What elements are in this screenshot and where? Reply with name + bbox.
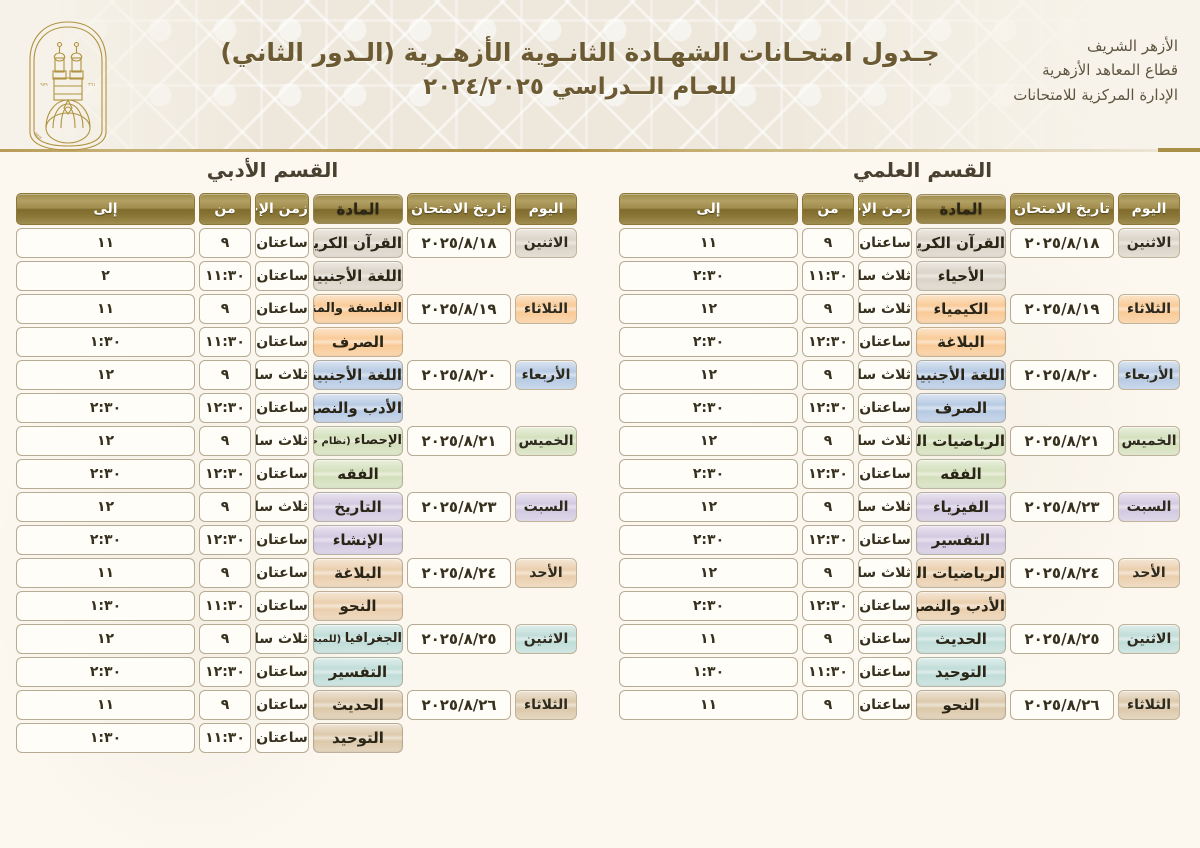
cell-time-from: ١٢:٣٠	[802, 459, 854, 489]
day-pill-empty	[515, 393, 577, 423]
time-to: ٢:٣٠	[16, 657, 195, 687]
cell-time-from: ٩	[199, 492, 251, 522]
cell-subject: التوحيد	[916, 657, 1006, 687]
table-row: الأحد٢٠٢٥/٨/٢٤البلاغةساعتان٩١١	[16, 558, 577, 588]
cell-time-from: ١٢:٣٠	[802, 393, 854, 423]
cell-time-to: ٢:٣٠	[619, 261, 798, 291]
subject-pill: الفقه	[916, 459, 1006, 489]
answer-duration: ساعتان ونصف	[255, 261, 309, 291]
time-to: ٢:٣٠	[16, 393, 195, 423]
time-to: ٢:٣٠	[16, 459, 195, 489]
cell-answer-duration: ساعتان	[255, 327, 309, 357]
cell-time-to: ٢	[16, 261, 195, 291]
time-from: ١٢:٣٠	[802, 393, 854, 423]
cell-time-from: ٩	[199, 558, 251, 588]
exam-date-empty	[1010, 525, 1114, 555]
cell-day: الثلاثاء	[515, 294, 577, 324]
time-to: ٢:٣٠	[619, 393, 798, 423]
subject-note: (للمبصرين فقط)	[313, 634, 345, 645]
cell-time-to: ١٢	[619, 492, 798, 522]
time-to: ١٢	[16, 360, 195, 390]
subject-pill: التوحيد	[916, 657, 1006, 687]
time-from: ١١:٣٠	[802, 261, 854, 291]
col-header-duration: زمن الإجابة	[858, 193, 912, 225]
cell-day: الأحد	[515, 558, 577, 588]
page-title-line-2: للعـام الــدراسي ٢٠٢٤/٢٠٢٥	[0, 70, 1160, 105]
cell-day: الاثنين	[515, 624, 577, 654]
subject-pill: القرآن الكريم	[916, 228, 1006, 258]
time-from: ١٢:٣٠	[199, 393, 251, 423]
table-row: الثلاثاء٢٠٢٥/٨/١٩الفلسفة والمنطق (نظام ق…	[16, 294, 577, 324]
time-to: ١١	[16, 294, 195, 324]
answer-duration: ساعتان	[858, 393, 912, 423]
cell-time-from: ٩	[199, 360, 251, 390]
cell-subject: الصرف	[916, 393, 1006, 423]
col-header-subject: المادة	[313, 193, 403, 225]
time-from: ١٢:٣٠	[802, 525, 854, 555]
answer-duration: ثلاث ساعات	[858, 492, 912, 522]
time-to: ١٢	[619, 426, 798, 456]
cell-day	[1118, 525, 1180, 555]
cell-time-to: ١١	[619, 690, 798, 720]
section-title-literary: القسم الأدبي	[12, 158, 581, 182]
exam-date-empty	[1010, 261, 1114, 291]
schedule-table-literary: اليوم تاريخ الامتحان المادة زمن الإجابة …	[12, 190, 581, 756]
exam-date-empty	[407, 591, 511, 621]
exam-date-empty	[1010, 459, 1114, 489]
cell-time-from: ١٢:٣٠	[802, 525, 854, 555]
table-row: الفقهساعتان١٢:٣٠٢:٣٠	[16, 459, 577, 489]
cell-subject: الأدب والنصوص والمطالعة	[313, 393, 403, 423]
time-to: ١٢	[619, 492, 798, 522]
time-from: ٩	[802, 690, 854, 720]
cell-answer-duration: ساعتان	[858, 459, 912, 489]
exam-date: ٢٠٢٥/٨/١٨	[407, 228, 511, 258]
cell-day: الثلاثاء	[515, 690, 577, 720]
day-pill-empty	[1118, 525, 1180, 555]
cell-answer-duration: ثلاث ساعات	[255, 624, 309, 654]
cell-answer-duration: ثلاث ساعات	[255, 360, 309, 390]
table-row: الخميس٢٠٢٥/٨/٢١الإحصاء (نظام حديث للمبصر…	[16, 426, 577, 456]
answer-duration: ثلاث ساعات	[858, 294, 912, 324]
table-row: الثلاثاء٢٠٢٥/٨/١٩الكيمياءثلاث ساعات٩١٢	[619, 294, 1180, 324]
time-from: ٩	[802, 558, 854, 588]
cell-subject: الرياضيات التطبيقية	[916, 426, 1006, 456]
time-to: ١٢	[16, 426, 195, 456]
table-row: البلاغةساعتان١٢:٣٠٢:٣٠	[619, 327, 1180, 357]
cell-date	[407, 261, 511, 291]
time-to: ١٢	[16, 624, 195, 654]
table-row: الأربعاء٢٠٢٥/٨/٢٠اللغة الأجنبيةثلاث ساعا…	[619, 360, 1180, 390]
col-header-duration: زمن الإجابة	[255, 193, 309, 225]
day-pill: الخميس	[1118, 426, 1180, 456]
cell-time-from: ٩	[802, 294, 854, 324]
table-row: الفقهساعتان١٢:٣٠٢:٣٠	[619, 459, 1180, 489]
cell-time-to: ٢:٣٠	[16, 525, 195, 555]
cell-subject: الأحياء	[916, 261, 1006, 291]
table-row: الاثنين٢٠٢٥/٨/٢٥الحديثساعتان٩١١	[619, 624, 1180, 654]
cell-subject: الفيزياء	[916, 492, 1006, 522]
time-to: ١:٣٠	[16, 591, 195, 621]
time-to: ١٢	[619, 294, 798, 324]
answer-duration: ساعتان	[858, 525, 912, 555]
subject-pill: القرآن الكريم	[313, 228, 403, 258]
time-to: ١١	[619, 228, 798, 258]
cell-time-from: ١١:٣٠	[802, 261, 854, 291]
cell-answer-duration: ساعتان	[255, 228, 309, 258]
col-header-date: تاريخ الامتحان	[1010, 193, 1114, 225]
exam-date: ٢٠٢٥/٨/١٩	[1010, 294, 1114, 324]
time-from: ١١:٣٠	[199, 591, 251, 621]
day-pill-empty	[1118, 261, 1180, 291]
time-to: ٢:٣٠	[16, 525, 195, 555]
cell-day: السبت	[515, 492, 577, 522]
cell-answer-duration: ساعتان	[255, 459, 309, 489]
exam-date: ٢٠٢٥/٨/١٩	[407, 294, 511, 324]
subject-pill: التفسير	[916, 525, 1006, 555]
answer-duration: ثلاث ساعات	[858, 261, 912, 291]
cell-date	[407, 327, 511, 357]
cell-answer-duration: ساعتان	[858, 591, 912, 621]
cell-day: الأربعاء	[1118, 360, 1180, 390]
table-row: الثلاثاء٢٠٢٥/٨/٢٦النحوساعتان٩١١	[619, 690, 1180, 720]
cell-time-to: ٢:٣٠	[16, 459, 195, 489]
subject-pill: اللغة الأجنبية الأولى	[313, 360, 403, 390]
answer-duration: ثلاث ساعات	[255, 360, 309, 390]
table-row: التوحيدساعتان١١:٣٠١:٣٠	[619, 657, 1180, 687]
col-header-day: اليوم	[1118, 193, 1180, 225]
cell-day	[1118, 393, 1180, 423]
exam-date: ٢٠٢٥/٨/١٨	[1010, 228, 1114, 258]
table-row: النحوساعتان١١:٣٠١:٣٠	[16, 591, 577, 621]
cell-time-to: ٢:٣٠	[619, 525, 798, 555]
cell-day	[515, 591, 577, 621]
cell-date	[407, 591, 511, 621]
cell-subject: الأدب والنصوص	[916, 591, 1006, 621]
subject-pill: الفلسفة والمنطق (نظام قديم)	[313, 294, 403, 324]
exam-date-empty	[407, 393, 511, 423]
day-pill: السبت	[1118, 492, 1180, 522]
col-header-from: من	[802, 193, 854, 225]
col-header-day: اليوم	[515, 193, 577, 225]
col-header-date: تاريخ الامتحان	[407, 193, 511, 225]
answer-duration: ساعتان	[255, 723, 309, 753]
cell-answer-duration: ساعتان	[858, 327, 912, 357]
cell-time-to: ١:٣٠	[619, 657, 798, 687]
subject-pill: البلاغة	[313, 558, 403, 588]
time-from: ٩	[199, 624, 251, 654]
time-from: ١٢:٣٠	[802, 591, 854, 621]
subject-pill: الرياضيات التطبيقية	[916, 426, 1006, 456]
time-from: ١٢:٣٠	[802, 327, 854, 357]
subject-pill: الكيمياء	[916, 294, 1006, 324]
cell-answer-duration: ساعتان ونصف	[255, 261, 309, 291]
subject-pill: الفقه	[313, 459, 403, 489]
time-from: ١٢:٣٠	[802, 459, 854, 489]
cell-answer-duration: ساعتان	[255, 690, 309, 720]
cell-subject: الإنشاء	[313, 525, 403, 555]
day-pill-empty	[1118, 459, 1180, 489]
time-to: ٢:٣٠	[619, 525, 798, 555]
day-pill: الثلاثاء	[515, 294, 577, 324]
exam-date-empty	[407, 657, 511, 687]
cell-answer-duration: ساعتان	[255, 723, 309, 753]
answer-duration: ساعتان	[858, 690, 912, 720]
cell-day	[515, 525, 577, 555]
time-from: ٩	[802, 228, 854, 258]
time-from: ٩	[802, 492, 854, 522]
cell-subject: البلاغة	[916, 327, 1006, 357]
cell-answer-duration: ساعتان	[858, 228, 912, 258]
schedule-table-scientific: اليوم تاريخ الامتحان المادة زمن الإجابة …	[615, 190, 1184, 723]
cell-date	[1010, 525, 1114, 555]
exam-date: ٢٠٢٥/٨/٢٥	[407, 624, 511, 654]
cell-time-to: ٢:٣٠	[619, 393, 798, 423]
cell-subject: اللغة الأجنبية	[916, 360, 1006, 390]
cell-subject: النحو	[916, 690, 1006, 720]
cell-time-from: ١٢:٣٠	[802, 327, 854, 357]
time-to: ٢:٣٠	[619, 327, 798, 357]
time-to: ٢:٣٠	[619, 591, 798, 621]
cell-date: ٢٠٢٥/٨/٢٤	[407, 558, 511, 588]
cell-answer-duration: ساعتان	[255, 591, 309, 621]
exam-date: ٢٠٢٥/٨/٢٠	[407, 360, 511, 390]
cell-answer-duration: ثلاث ساعات	[858, 426, 912, 456]
cell-time-to: ١٢	[16, 360, 195, 390]
answer-duration: ساعتان	[255, 657, 309, 687]
day-pill-empty	[1118, 393, 1180, 423]
table-row: الأدب والنصوص والمطالعةساعتان١٢:٣٠٢:٣٠	[16, 393, 577, 423]
cell-time-from: ٩	[802, 492, 854, 522]
cell-time-from: ١١:٣٠	[802, 657, 854, 687]
time-to: ٢:٣٠	[619, 261, 798, 291]
exam-date: ٢٠٢٥/٨/٢١	[407, 426, 511, 456]
answer-duration: ساعتان	[858, 228, 912, 258]
day-pill: الخميس	[515, 426, 577, 456]
subject-pill: التفسير	[313, 657, 403, 687]
cell-time-to: ٢:٣٠	[619, 327, 798, 357]
exam-date: ٢٠٢٥/٨/٢٤	[1010, 558, 1114, 588]
cell-subject: الفقه	[916, 459, 1006, 489]
col-header-to: إلى	[619, 193, 798, 225]
answer-duration: ساعتان	[255, 459, 309, 489]
cell-date	[1010, 591, 1114, 621]
day-pill-empty	[515, 525, 577, 555]
exam-date-empty	[407, 525, 511, 555]
cell-answer-duration: ساعتان	[858, 393, 912, 423]
cell-subject: التاريخ	[313, 492, 403, 522]
cell-answer-duration: ساعتان	[255, 525, 309, 555]
cell-time-to: ١١	[16, 690, 195, 720]
table-row: الأدب والنصوصساعتان١٢:٣٠٢:٣٠	[619, 591, 1180, 621]
table-row: الثلاثاء٢٠٢٥/٨/٢٦الحديثساعتان٩١١	[16, 690, 577, 720]
answer-duration: ثلاث ساعات	[255, 492, 309, 522]
subject-pill: اللغة الأجنبية	[916, 360, 1006, 390]
cell-time-from: ١٢:٣٠	[199, 459, 251, 489]
time-to: ١١	[619, 690, 798, 720]
day-pill-empty	[515, 591, 577, 621]
cell-day	[1118, 657, 1180, 687]
cell-answer-duration: ساعتان	[255, 393, 309, 423]
cell-date	[407, 723, 511, 753]
cell-subject: اللغة الأجنبية الأولى	[313, 360, 403, 390]
subject-pill: الإحصاء (نظام حديث للمبصرين فقط)	[313, 426, 403, 456]
cell-time-to: ١٢	[619, 558, 798, 588]
cell-day	[1118, 459, 1180, 489]
subject-pill: النحو	[313, 591, 403, 621]
time-from: ٩	[802, 624, 854, 654]
day-pill: الأربعاء	[1118, 360, 1180, 390]
cell-time-to: ١٢	[16, 492, 195, 522]
cell-subject: القرآن الكريم	[916, 228, 1006, 258]
answer-duration: ثلاث ساعات	[858, 558, 912, 588]
table-body-literary: الاثنين٢٠٢٥/٨/١٨القرآن الكريمساعتان٩١١ ا…	[16, 228, 577, 753]
time-from: ١٢:٣٠	[199, 459, 251, 489]
cell-time-to: ١١	[16, 228, 195, 258]
cell-time-from: ١١:٣٠	[199, 591, 251, 621]
cell-day	[515, 327, 577, 357]
cell-subject: الفلسفة والمنطق (نظام قديم)	[313, 294, 403, 324]
table-row: اللغة الأجنبية الثانيةساعتان ونصف١١:٣٠٢	[16, 261, 577, 291]
subject-pill: النحو	[916, 690, 1006, 720]
exam-date: ٢٠٢٥/٨/٢٦	[1010, 690, 1114, 720]
answer-duration: ساعتان	[255, 228, 309, 258]
cell-time-to: ١:٣٠	[16, 591, 195, 621]
cell-subject: اللغة الأجنبية الثانية	[313, 261, 403, 291]
day-pill: السبت	[515, 492, 577, 522]
cell-day	[1118, 591, 1180, 621]
table-row: الخميس٢٠٢٥/٨/٢١الرياضيات التطبيقيةثلاث س…	[619, 426, 1180, 456]
table-head-scientific: اليوم تاريخ الامتحان المادة زمن الإجابة …	[619, 193, 1180, 225]
cell-date	[1010, 393, 1114, 423]
cell-date: ٢٠٢٥/٨/٢١	[407, 426, 511, 456]
answer-duration: ساعتان	[858, 459, 912, 489]
cell-time-to: ١١	[16, 294, 195, 324]
cell-day	[515, 459, 577, 489]
day-pill: الثلاثاء	[515, 690, 577, 720]
answer-duration: ساعتان	[255, 525, 309, 555]
cell-date: ٢٠٢٥/٨/١٨	[1010, 228, 1114, 258]
exam-date-empty	[407, 723, 511, 753]
cell-date: ٢٠٢٥/٨/٢٦	[1010, 690, 1114, 720]
table-row: الصرفساعتان١١:٣٠١:٣٠	[16, 327, 577, 357]
time-to: ١١	[16, 558, 195, 588]
subject-note: (نظام حديث للمبصرين فقط)	[313, 436, 354, 447]
time-from: ١٢:٣٠	[199, 657, 251, 687]
time-from: ٩	[802, 426, 854, 456]
exam-date-empty	[1010, 591, 1114, 621]
time-to: ١:٣٠	[16, 327, 195, 357]
subject-pill: البلاغة	[916, 327, 1006, 357]
table-header-row: اليوم تاريخ الامتحان المادة زمن الإجابة …	[16, 193, 577, 225]
exam-date: ٢٠٢٥/٨/٢٤	[407, 558, 511, 588]
cell-answer-duration: ثلاث ساعات	[858, 360, 912, 390]
time-to: ١١	[16, 228, 195, 258]
time-from: ١١:٣٠	[199, 261, 251, 291]
cell-time-from: ١٢:٣٠	[802, 591, 854, 621]
answer-duration: ساعتان	[255, 558, 309, 588]
day-pill-empty	[515, 657, 577, 687]
cell-subject: الحديث	[916, 624, 1006, 654]
cell-time-from: ٩	[802, 426, 854, 456]
day-pill: الأحد	[1118, 558, 1180, 588]
cell-subject: التوحيد	[313, 723, 403, 753]
day-pill: الثلاثاء	[1118, 690, 1180, 720]
cell-time-to: ١٢	[619, 426, 798, 456]
cell-date: ٢٠٢٥/٨/٢٣	[1010, 492, 1114, 522]
cell-day	[515, 657, 577, 687]
exam-date-empty	[407, 327, 511, 357]
cell-date: ٢٠٢٥/٨/٢٦	[407, 690, 511, 720]
al-azhar-emblem-icon: ٩٧٩ ٣٦١ AL AZHAR AL SHARIF	[20, 16, 116, 152]
day-pill-empty	[1118, 327, 1180, 357]
exam-date: ٢٠٢٥/٨/٢٣	[407, 492, 511, 522]
cell-answer-duration: ساعتان	[858, 624, 912, 654]
cell-answer-duration: ساعتان	[255, 558, 309, 588]
table-row: السبت٢٠٢٥/٨/٢٣التاريخثلاث ساعات٩١٢	[16, 492, 577, 522]
cell-time-to: ١١	[619, 624, 798, 654]
table-row: التفسيرساعتان١٢:٣٠٢:٣٠	[619, 525, 1180, 555]
table-row: التوحيدساعتان١١:٣٠١:٣٠	[16, 723, 577, 753]
cell-time-from: ٩	[802, 228, 854, 258]
cell-time-from: ٩	[802, 360, 854, 390]
cell-time-to: ٢:٣٠	[619, 591, 798, 621]
cell-day: الخميس	[1118, 426, 1180, 456]
answer-duration: ساعتان	[255, 294, 309, 324]
answer-duration: ساعتان	[255, 591, 309, 621]
cell-answer-duration: ساعتان	[858, 690, 912, 720]
time-from: ٩	[199, 360, 251, 390]
answer-duration: ثلاث ساعات	[858, 360, 912, 390]
cell-day: السبت	[1118, 492, 1180, 522]
day-pill-empty	[515, 327, 577, 357]
answer-duration: ثلاث ساعات	[858, 426, 912, 456]
cell-subject: الرياضيات البحتة	[916, 558, 1006, 588]
cell-answer-duration: ساعتان	[255, 294, 309, 324]
cell-time-to: ١٢	[619, 360, 798, 390]
org-line-admin: الإدارة المركزية للامتحانات	[1013, 83, 1178, 107]
svg-text:٣٦١: ٣٦١	[88, 82, 95, 88]
cell-time-from: ٩	[802, 690, 854, 720]
exam-date-empty	[1010, 657, 1114, 687]
cell-time-to: ١١	[16, 558, 195, 588]
time-to: ٢	[16, 261, 195, 291]
answer-duration: ساعتان	[255, 690, 309, 720]
cell-date: ٢٠٢٥/٨/١٩	[407, 294, 511, 324]
day-pill-empty	[515, 261, 577, 291]
cell-day: الاثنين	[1118, 624, 1180, 654]
table-row: السبت٢٠٢٥/٨/٢٣الفيزياءثلاث ساعات٩١٢	[619, 492, 1180, 522]
answer-duration: ساعتان	[858, 591, 912, 621]
cell-subject: القرآن الكريم	[313, 228, 403, 258]
cell-time-to: ٢:٣٠	[16, 393, 195, 423]
section-literary: القسم الأدبي اليوم تاريخ الامتحان المادة…	[12, 158, 581, 756]
day-pill: الاثنين	[1118, 228, 1180, 258]
page-header: ٩٧٩ ٣٦١ AL AZHAR AL SHARIF جـدول امتحـان…	[0, 0, 1200, 152]
organization-block: الأزهر الشريف قطاع المعاهد الأزهرية الإد…	[1013, 34, 1178, 107]
time-to: ١٢	[619, 558, 798, 588]
cell-time-from: ١١:٣٠	[199, 261, 251, 291]
cell-date: ٢٠٢٥/٨/٢٥	[1010, 624, 1114, 654]
table-row: التفسيرساعتان١٢:٣٠٢:٣٠	[16, 657, 577, 687]
org-line-authority: الأزهر الشريف	[1013, 34, 1178, 58]
cell-day: الاثنين	[515, 228, 577, 258]
cell-date: ٢٠٢٥/٨/١٨	[407, 228, 511, 258]
cell-day: الأربعاء	[515, 360, 577, 390]
cell-day: الثلاثاء	[1118, 294, 1180, 324]
cell-time-to: ١١	[619, 228, 798, 258]
section-title-scientific: القسم العلمي	[615, 158, 1184, 182]
